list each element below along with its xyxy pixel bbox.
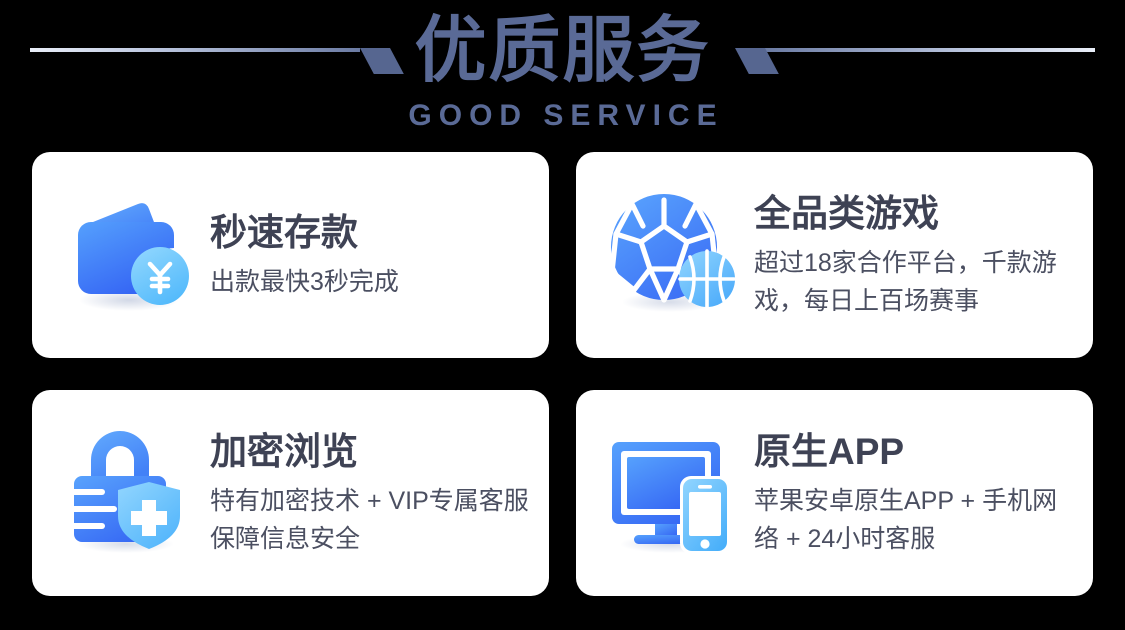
card-text-block: 全品类游戏 超过18家合作平台，千款游戏，每日上百场赛事: [748, 191, 1075, 320]
lock-shield-icon: [54, 418, 204, 568]
card-text-block: 秒速存款 出款最快3秒完成: [204, 210, 531, 301]
page-subtitle: GOOD SERVICE: [0, 98, 1125, 134]
card-title: 秒速存款: [210, 210, 531, 256]
feature-card-deposit[interactable]: 秒速存款 出款最快3秒完成: [32, 152, 549, 358]
feature-card-encryption[interactable]: 加密浏览 特有加密技术 + VIP专属客服保障信息安全: [32, 390, 549, 596]
card-text-block: 原生APP 苹果安卓原生APP + 手机网络 + 24小时客服: [748, 429, 1075, 558]
card-description: 超过18家合作平台，千款游戏，每日上百场赛事: [754, 244, 1075, 320]
card-description: 特有加密技术 + VIP专属客服保障信息安全: [210, 482, 531, 558]
soccer-basketball-icon: [598, 180, 748, 330]
feature-card-games[interactable]: 全品类游戏 超过18家合作平台，千款游戏，每日上百场赛事: [576, 152, 1093, 358]
wallet-yen-icon: [54, 180, 204, 330]
card-text-block: 加密浏览 特有加密技术 + VIP专属客服保障信息安全: [204, 429, 531, 558]
card-description: 出款最快3秒完成: [210, 263, 531, 301]
card-title: 全品类游戏: [754, 191, 1075, 237]
feature-card-native-app[interactable]: 原生APP 苹果安卓原生APP + 手机网络 + 24小时客服: [576, 390, 1093, 596]
feature-card-grid: 秒速存款 出款最快3秒完成: [32, 152, 1093, 596]
card-title: 原生APP: [754, 429, 1075, 475]
page-title: 优质服务: [0, 8, 1125, 94]
card-description: 苹果安卓原生APP + 手机网络 + 24小时客服: [754, 482, 1075, 558]
page-header: 优质服务 GOOD SERVICE: [0, 0, 1125, 145]
monitor-phone-icon: [598, 418, 748, 568]
card-title: 加密浏览: [210, 429, 531, 475]
